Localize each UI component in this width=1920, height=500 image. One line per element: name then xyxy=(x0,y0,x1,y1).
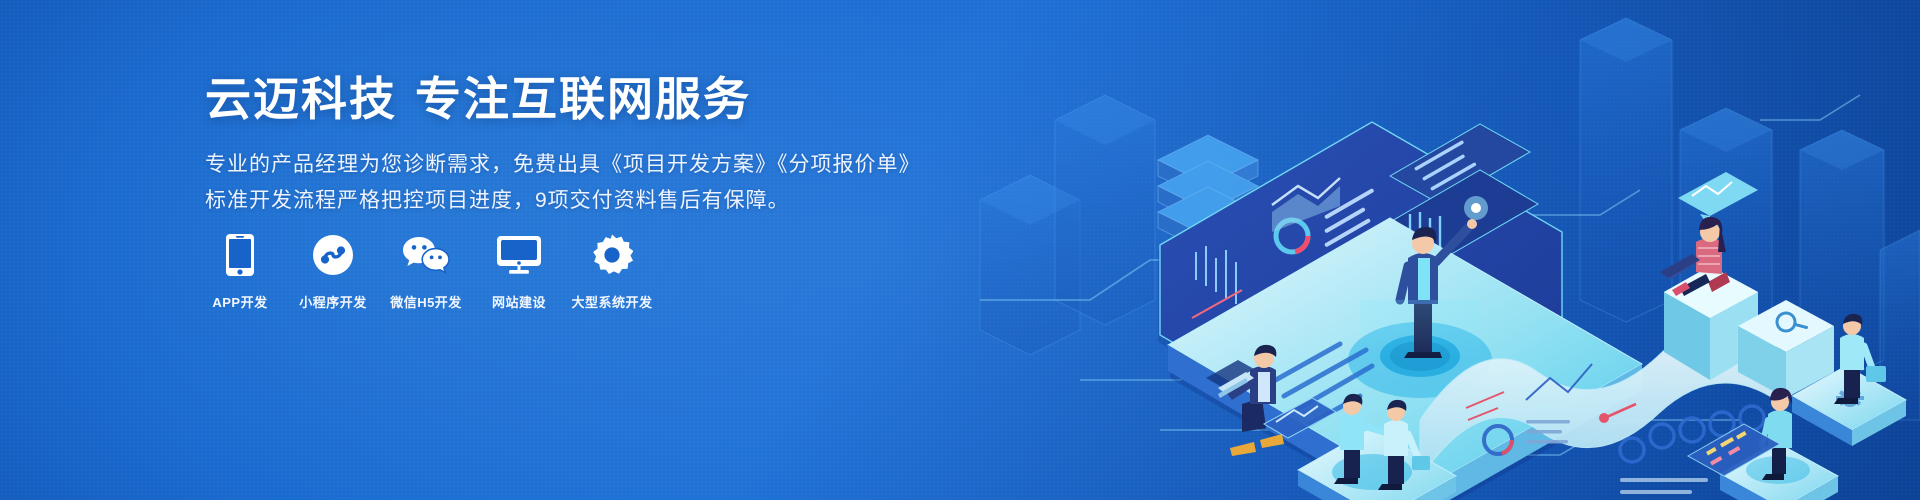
subtitle-line-2: 标准开发流程严格把控项目进度，9项交付资料售后有保障。 xyxy=(205,184,790,214)
gear-icon xyxy=(591,232,633,278)
service-label: 大型系统开发 xyxy=(572,292,653,311)
service-item-app[interactable]: APP开发 xyxy=(205,232,275,311)
service-item-large-system[interactable]: 大型系统开发 xyxy=(577,232,647,311)
mini-program-icon xyxy=(312,232,354,278)
service-item-wechat-h5[interactable]: 微信H5开发 xyxy=(391,232,461,311)
service-label: 网站建设 xyxy=(492,292,546,311)
headline-brand: 云迈科技 xyxy=(205,73,397,125)
service-label: 小程序开发 xyxy=(299,292,367,311)
headline-tagline: 专注互联网服务 xyxy=(415,73,751,125)
hero-content: 云迈科技专注互联网服务 专业的产品经理为您诊断需求，免费出具《项目开发方案》《分… xyxy=(205,0,1105,500)
hero-banner: 云迈科技专注互联网服务 专业的产品经理为您诊断需求，免费出具《项目开发方案》《分… xyxy=(0,0,1920,500)
service-label: 微信H5开发 xyxy=(390,292,462,311)
subtitle-line-1: 专业的产品经理为您诊断需求，免费出具《项目开发方案》《分项报价单》 xyxy=(205,148,921,178)
service-icon-row: APP开发 小程序开发 xyxy=(205,232,670,311)
service-label: APP开发 xyxy=(212,292,267,311)
service-item-website[interactable]: 网站建设 xyxy=(484,232,554,311)
monitor-icon xyxy=(496,232,542,278)
mobile-phone-icon xyxy=(225,232,255,278)
wechat-icon xyxy=(402,232,450,278)
service-item-miniprogram[interactable]: 小程序开发 xyxy=(298,232,368,311)
page-title: 云迈科技专注互联网服务 xyxy=(205,72,751,127)
